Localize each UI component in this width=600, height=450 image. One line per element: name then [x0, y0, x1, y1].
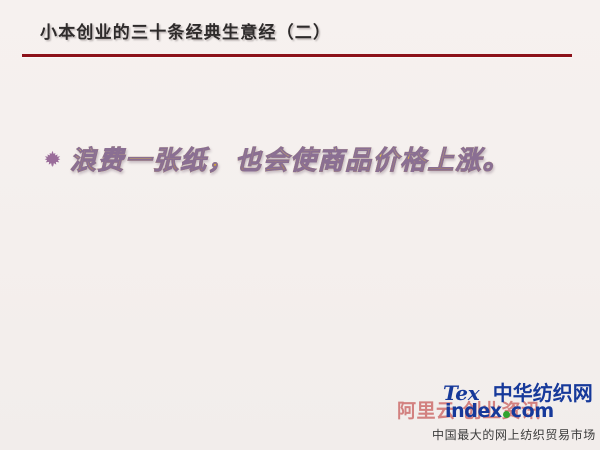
brand-domain-com: com: [511, 402, 554, 421]
slide-title-area: 小本创业的三十条经典生意经（二）: [0, 18, 600, 64]
presentation-slide: 小本创业的三十条经典生意经（二） 浪费一张纸，也会使商品价格上涨。 阿里云 创业…: [0, 0, 600, 450]
watermark-group: 阿里云 创业资讯 Tex 中华纺织网 index com 中国最大的网上纺织贸易…: [395, 382, 600, 450]
title-underline-divider: [22, 54, 572, 57]
green-dot-icon: [503, 411, 510, 418]
bullet-text: 浪费一张纸，也会使商品价格上涨。: [70, 140, 510, 177]
brand-domain-index: index: [445, 402, 502, 421]
bullet-list-item: 浪费一张纸，也会使商品价格上涨。: [44, 140, 510, 177]
brand-logo-line-2: index com: [445, 402, 554, 421]
slide-body-area: 浪费一张纸，也会使商品价格上涨。: [0, 140, 600, 184]
maple-leaf-bullet-icon: [44, 150, 61, 167]
page-title: 小本创业的三十条经典生意经（二）: [40, 18, 331, 43]
brand-tagline: 中国最大的网上纺织贸易市场: [432, 426, 596, 443]
